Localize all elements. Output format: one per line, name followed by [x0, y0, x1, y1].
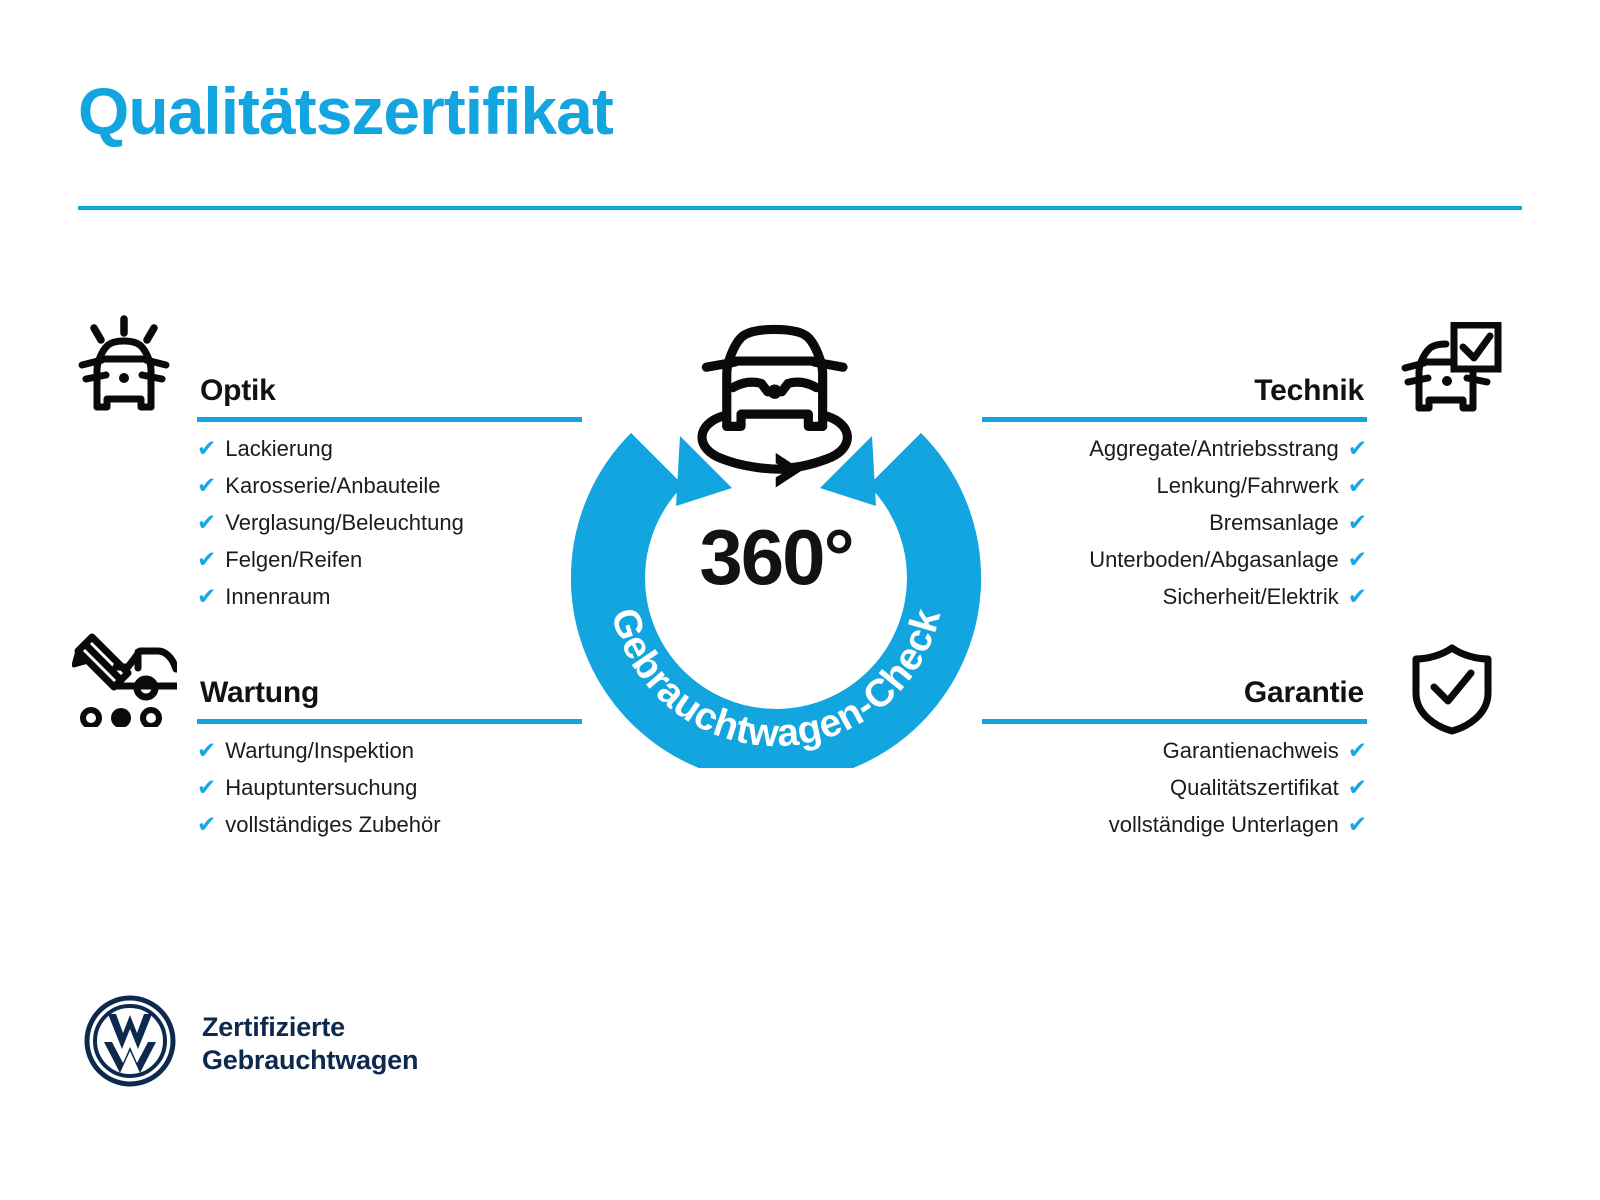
check-icon: ✔: [197, 732, 216, 769]
list-item-label: Hauptuntersuchung: [225, 769, 417, 806]
list-item: ✔ Karosserie/Anbauteile: [197, 467, 582, 504]
block-wartung-list: ✔ Wartung/Inspektion ✔ Hauptuntersuchung…: [197, 732, 582, 843]
block-optik-list: ✔ Lackierung ✔ Karosserie/Anbauteile ✔ V…: [197, 430, 582, 615]
volkswagen-logo: [82, 993, 178, 1094]
list-item-label: Unterboden/Abgasanlage: [1089, 541, 1339, 578]
block-wartung-heading: Wartung: [200, 676, 319, 710]
list-item-label: Verglasung/Beleuchtung: [225, 504, 464, 541]
car-front-shine-icon: [72, 313, 177, 423]
list-item-label: Felgen/Reifen: [225, 541, 362, 578]
check-icon: ✔: [1348, 806, 1367, 843]
shield-check-icon: [1408, 643, 1496, 740]
list-item: ✔ Wartung/Inspektion: [197, 732, 582, 769]
list-item-label: Garantienachweis: [1163, 732, 1339, 769]
block-wartung: Wartung ✔ Wartung/Inspektion ✔ Hauptunte…: [197, 660, 582, 843]
car-front-rotate-icon: [702, 329, 847, 487]
list-item-label: Bremsanlage: [1209, 504, 1339, 541]
list-item: Lenkung/Fahrwerk ✔: [982, 467, 1367, 504]
check-icon: ✔: [1348, 504, 1367, 541]
check-icon: ✔: [197, 467, 216, 504]
block-wartung-header: Wartung: [197, 660, 582, 732]
block-optik-header: Optik: [197, 358, 582, 430]
check-icon: ✔: [197, 430, 216, 467]
check-icon: ✔: [197, 504, 216, 541]
list-item: ✔ vollständiges Zubehör: [197, 806, 582, 843]
list-item: ✔ Lackierung: [197, 430, 582, 467]
block-garantie-divider: [982, 719, 1367, 724]
check-icon: ✔: [1348, 769, 1367, 806]
car-front-checkbox-icon: [1398, 322, 1503, 422]
block-optik-heading: Optik: [200, 374, 276, 408]
block-wartung-divider: [197, 719, 582, 724]
list-item: ✔ Felgen/Reifen: [197, 541, 582, 578]
list-item-label: Karosserie/Anbauteile: [225, 467, 440, 504]
check-icon: ✔: [1348, 430, 1367, 467]
list-item: Qualitätszertifikat ✔: [982, 769, 1367, 806]
check-icon: ✔: [1348, 467, 1367, 504]
footer-brand: Zertifizierte Gebrauchtwagen: [82, 993, 418, 1094]
check-icon: ✔: [197, 769, 216, 806]
list-item-label: Lackierung: [225, 430, 333, 467]
list-item: Bremsanlage ✔: [982, 504, 1367, 541]
list-item: Garantienachweis ✔: [982, 732, 1367, 769]
block-garantie-header: Garantie: [982, 660, 1367, 732]
footer-label: Zertifizierte Gebrauchtwagen: [202, 1011, 418, 1077]
list-item-label: Lenkung/Fahrwerk: [1157, 467, 1339, 504]
block-garantie: Garantie Garantienachweis ✔ Qualitätszer…: [982, 660, 1367, 843]
list-item-label: vollständige Unterlagen: [1109, 806, 1339, 843]
360-check-badge: Gebrauchtwagen-Check: [556, 298, 996, 768]
list-item-label: vollständiges Zubehör: [225, 806, 440, 843]
list-item-label: Sicherheit/Elektrik: [1163, 578, 1339, 615]
list-item-label: Qualitätszertifikat: [1170, 769, 1339, 806]
check-icon: ✔: [197, 806, 216, 843]
list-item: ✔ Verglasung/Beleuchtung: [197, 504, 582, 541]
check-icon: ✔: [1348, 732, 1367, 769]
list-item-label: Innenraum: [225, 578, 330, 615]
list-item: Unterboden/Abgasanlage ✔: [982, 541, 1367, 578]
check-icon: ✔: [197, 541, 216, 578]
check-icon: ✔: [197, 578, 216, 615]
list-item: Sicherheit/Elektrik ✔: [982, 578, 1367, 615]
block-optik-divider: [197, 417, 582, 422]
block-technik-header: Technik: [982, 358, 1367, 430]
title-divider: [78, 206, 1522, 210]
list-item: Aggregate/Antriebsstrang ✔: [982, 430, 1367, 467]
list-item-label: Wartung/Inspektion: [225, 732, 414, 769]
list-item: ✔ Hauptuntersuchung: [197, 769, 582, 806]
page-title: Qualitätszertifikat: [78, 78, 613, 144]
list-item: ✔ Innenraum: [197, 578, 582, 615]
check-icon: ✔: [1348, 578, 1367, 615]
block-garantie-heading: Garantie: [1244, 676, 1364, 710]
list-item: vollständige Unterlagen ✔: [982, 806, 1367, 843]
block-technik-list: Aggregate/Antriebsstrang ✔ Lenkung/Fahrw…: [982, 430, 1367, 615]
block-technik-divider: [982, 417, 1367, 422]
certificate-page: Qualitätszertifikat: [0, 0, 1600, 1200]
check-icon: ✔: [1348, 541, 1367, 578]
list-item-label: Aggregate/Antriebsstrang: [1089, 430, 1339, 467]
block-technik-heading: Technik: [1254, 374, 1364, 408]
block-garantie-list: Garantienachweis ✔ Qualitätszertifikat ✔…: [982, 732, 1367, 843]
block-technik: Technik Aggregate/Antriebsstrang ✔ Lenku…: [982, 358, 1367, 615]
badge-ring: [556, 340, 996, 768]
block-optik: Optik ✔ Lackierung ✔ Karosserie/Anbautei…: [197, 358, 582, 615]
pencil-car-service-icon: [72, 632, 177, 732]
